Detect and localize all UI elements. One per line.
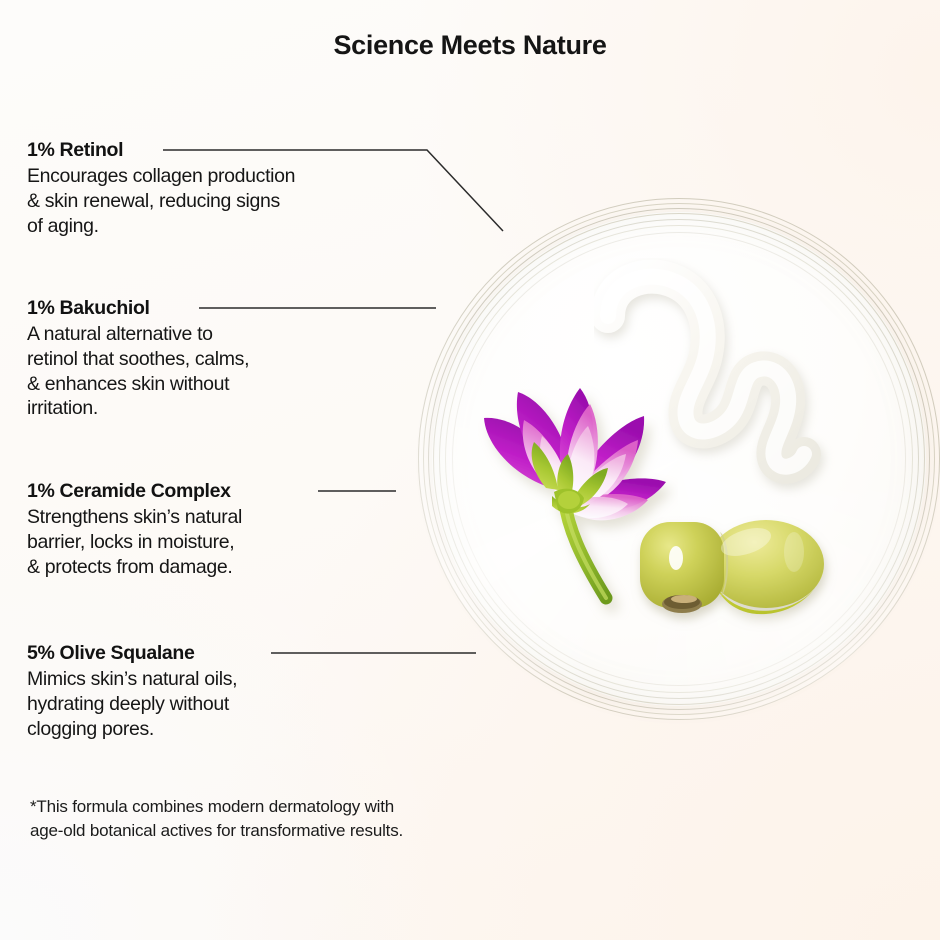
ingredient-name-label: 1% Retinol <box>27 139 123 162</box>
ingredient-name: 1% Retinol <box>27 139 295 162</box>
ingredient-name: 5% Olive Squalane <box>27 642 237 665</box>
ingredient-description: A natural alternative to retinol that so… <box>27 322 249 421</box>
ingredient-block-retinol: 1% Retinol Encourages collagen productio… <box>27 139 295 238</box>
ingredient-name: 1% Bakuchiol <box>27 297 249 320</box>
petri-dish <box>418 198 940 720</box>
ingredient-description: Encourages collagen production & skin re… <box>27 164 295 238</box>
ingredient-block-squalane: 5% Olive Squalane Mimics skin’s natural … <box>27 642 237 741</box>
ingredient-block-bakuchiol: 1% Bakuchiol A natural alternative to re… <box>27 297 249 421</box>
page-title: Science Meets Nature <box>0 30 940 61</box>
footnote: *This formula combines modern dermatolog… <box>30 795 403 843</box>
ingredient-name-label: 5% Olive Squalane <box>27 642 194 665</box>
water-lily-flower <box>468 370 678 620</box>
ingredient-description: Strengthens skin’s natural barrier, lock… <box>27 505 242 579</box>
ingredient-name-label: 1% Ceramide Complex <box>27 480 231 503</box>
ingredient-name: 1% Ceramide Complex <box>27 480 242 503</box>
ingredient-name-label: 1% Bakuchiol <box>27 297 150 320</box>
ingredient-description: Mimics skin’s natural oils, hydrating de… <box>27 667 237 741</box>
ingredient-block-ceramide: 1% Ceramide Complex Strengthens skin’s n… <box>27 480 242 579</box>
